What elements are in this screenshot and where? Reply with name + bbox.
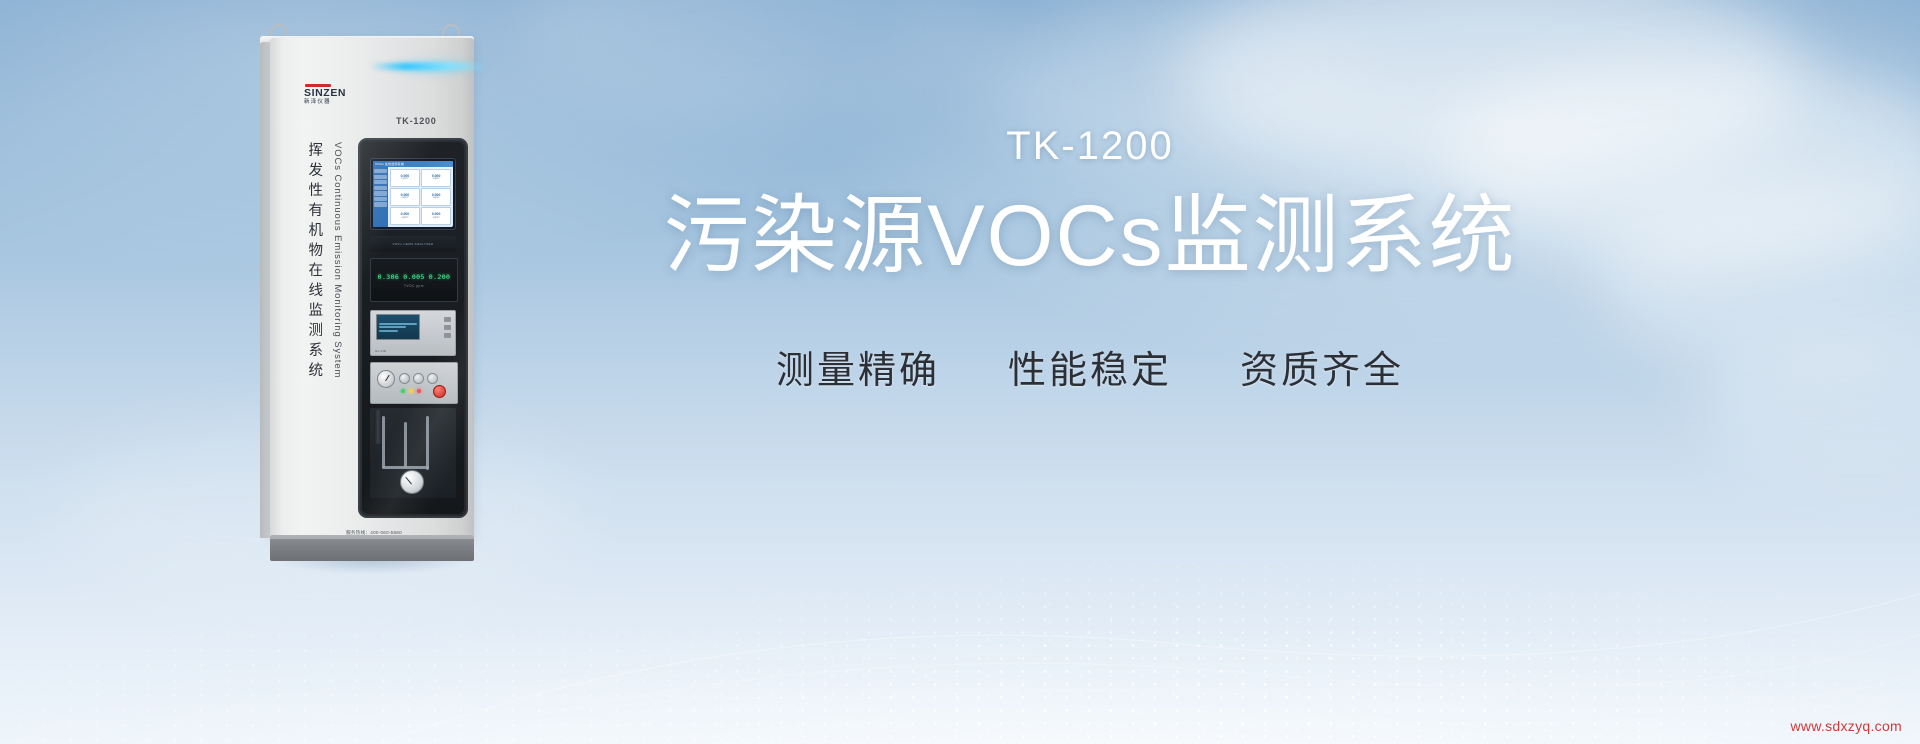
gas-tube [382,466,429,469]
hmi-titlebar-text: VOCs 在线监测系统 [375,162,404,166]
module-button[interactable] [444,333,451,338]
cabinet-base-highlight [270,535,474,539]
flow-gauge-icon [400,470,424,494]
hmi-reading-unit: mg/m³ [433,197,440,199]
brand-logo: SINZEN 新泽仪器 [304,84,368,106]
cloud-haze [520,0,1000,120]
cabinet-vertical-cn-text: 挥发性有机物在线监测系统 [306,142,321,382]
pressure-gauge-icon [377,370,395,388]
emergency-stop-button[interactable] [433,385,446,398]
module-button[interactable] [444,317,451,322]
brand-name-text: SINZEN [304,88,368,99]
product-cabinet-image: SINZEN 新泽仪器 TK-1200 挥发性有机物在线监测系统 VOCs Co… [252,16,492,576]
led-readout-row: 0.306 0.005 0.200 [378,273,451,281]
hmi-nav-menu[interactable] [373,167,388,227]
analyzer-module: GC-FID [370,310,456,356]
cabinet-front-face: SINZEN 新泽仪器 TK-1200 挥发性有机物在线监测系统 VOCs Co… [270,38,474,538]
status-led-green [401,389,405,393]
analyzer-nameplate-text: VOCs CEMS ANALYZER [393,242,434,246]
gas-tube [382,416,385,468]
module-button[interactable] [444,325,451,330]
led-readout-label: TVOC ppm [404,284,424,288]
control-knob[interactable] [399,373,410,384]
hmi-nav-item[interactable] [374,180,386,184]
hmi-nav-item[interactable] [374,191,386,195]
module-button-group[interactable] [444,317,451,338]
gas-tube [426,416,429,470]
module-lcd-screen [376,314,420,340]
door-handle[interactable] [374,410,382,444]
module-label-text: GC-FID [375,349,386,353]
cabinet-vertical-en-text: VOCs Continuous Emission Monitoring Syst… [332,142,343,378]
gas-manifold-section [370,408,456,498]
lcd-line [379,326,406,328]
feature-item: 资质齐全 [1240,339,1404,394]
brand-name-cn-text: 新泽仪器 [304,100,368,106]
analyzer-nameplate-strip: VOCs CEMS ANALYZER [370,236,456,252]
feature-list: 测量精确 性能稳定 资质齐全 [540,339,1640,394]
cloud-haze [1700,330,1920,480]
cabinet-glass-door[interactable]: VOCs 在线监测系统 [358,138,468,518]
hmi-body: 0.000 mg/m³ 0.000 mg/m³ 0.000 [373,167,453,227]
product-model-heading: TK-1200 [540,120,1640,172]
hmi-reading-cell: 0.000 mg/m³ [390,188,420,206]
led-readout-value: 0.005 [403,273,425,281]
feature-item: 性能稳定 [1008,339,1172,394]
cloud-haze [1600,180,1920,380]
hmi-touch-panel[interactable]: VOCs 在线监测系统 [370,158,456,230]
hmi-reading-cell: 0.000 mg/m³ [390,207,420,225]
control-knob[interactable] [413,373,424,384]
control-knob[interactable] [427,373,438,384]
hmi-nav-item[interactable] [374,197,386,201]
status-light-strip [370,63,488,70]
hmi-reading-cell: 0.000 mg/m³ [390,169,420,187]
hmi-nav-item[interactable] [374,169,386,173]
hmi-reading-cell: 0.000 mg/m³ [421,169,451,187]
page-title: 污染源VOCs监测系统 [540,186,1640,287]
hmi-reading-cell: 0.000 mg/m³ [421,207,451,225]
lcd-line [379,323,417,325]
hmi-reading-unit: mg/m³ [402,178,409,180]
control-valve-panel [370,362,458,404]
hmi-nav-item[interactable] [374,186,386,190]
hmi-screen: VOCs 在线监测系统 [373,161,453,227]
lcd-line [379,330,398,332]
gas-tube [404,422,407,468]
site-watermark: www.sdxzyq.com [1790,718,1902,734]
led-readout-panel: 0.306 0.005 0.200 TVOC ppm [370,258,458,302]
hmi-reading-grid: 0.000 mg/m³ 0.000 mg/m³ 0.000 [388,167,453,227]
led-readout-value: 0.306 [378,273,400,281]
hmi-reading-unit: mg/m³ [433,217,440,219]
hmi-reading-unit: mg/m³ [402,197,409,199]
hmi-reading-unit: mg/m³ [433,178,440,180]
cabinet-door-interior: VOCs 在线监测系统 [362,142,464,514]
hmi-nav-item[interactable] [374,175,386,179]
hmi-reading-cell: 0.000 mg/m³ [421,188,451,206]
cabinet-model-plate: TK-1200 [396,116,437,126]
feature-item: 测量精确 [776,339,940,394]
hero-text-block: TK-1200 污染源VOCs监测系统 测量精确 性能稳定 资质齐全 [540,120,1640,394]
hmi-nav-item[interactable] [374,202,386,206]
hmi-reading-unit: mg/m³ [402,217,409,219]
led-readout-value: 0.200 [429,273,451,281]
status-led-amber [409,389,413,393]
vocs-product-banner: SINZEN 新泽仪器 TK-1200 挥发性有机物在线监测系统 VOCs Co… [0,0,1920,744]
status-led-red [417,389,421,393]
